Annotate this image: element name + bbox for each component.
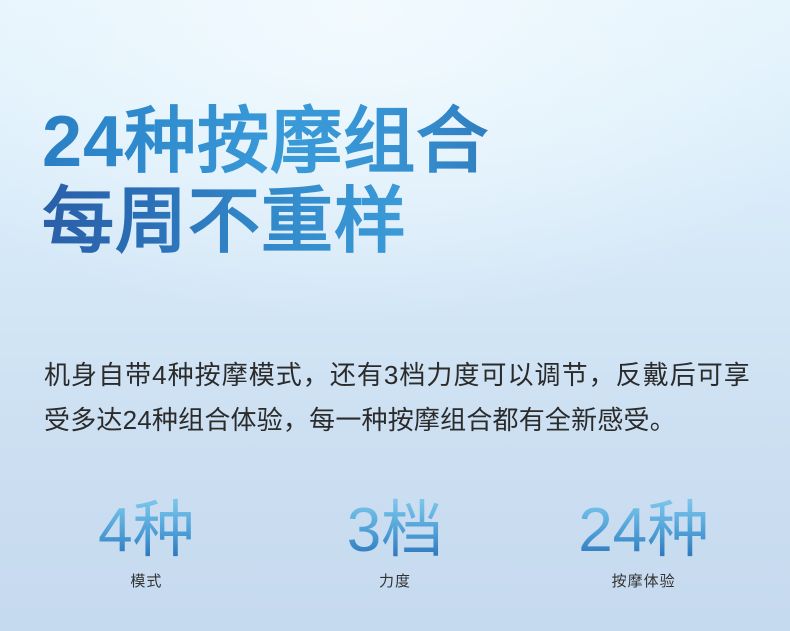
promo-poster: 24种按摩组合 每周不重样 机身自带4种按摩模式，还有3档力度可以调节，反戴后可… bbox=[0, 0, 790, 631]
stat-value-modes: 4种 bbox=[22, 492, 271, 570]
stat-item-combinations: 24种 按摩体验 bbox=[519, 492, 768, 592]
stat-value-combinations: 24种 bbox=[519, 492, 768, 570]
stats-row: 4种 模式 3档 力度 24种 按摩体验 bbox=[0, 492, 790, 592]
stat-item-intensity: 3档 力度 bbox=[271, 492, 520, 592]
headline: 24种按摩组合 每周不重样 bbox=[42, 102, 762, 262]
headline-line-2: 每周不重样 bbox=[42, 182, 762, 262]
stat-value-intensity: 3档 bbox=[271, 492, 520, 570]
stat-label-combinations: 按摩体验 bbox=[519, 572, 768, 592]
stat-label-modes: 模式 bbox=[22, 572, 271, 592]
headline-line-1: 24种按摩组合 bbox=[42, 102, 762, 182]
body-paragraph: 机身自带4种按摩模式，还有3档力度可以调节，反戴后可享受多达24种组合体验，每一… bbox=[44, 353, 750, 443]
stat-item-modes: 4种 模式 bbox=[22, 492, 271, 592]
stat-label-intensity: 力度 bbox=[271, 572, 520, 592]
